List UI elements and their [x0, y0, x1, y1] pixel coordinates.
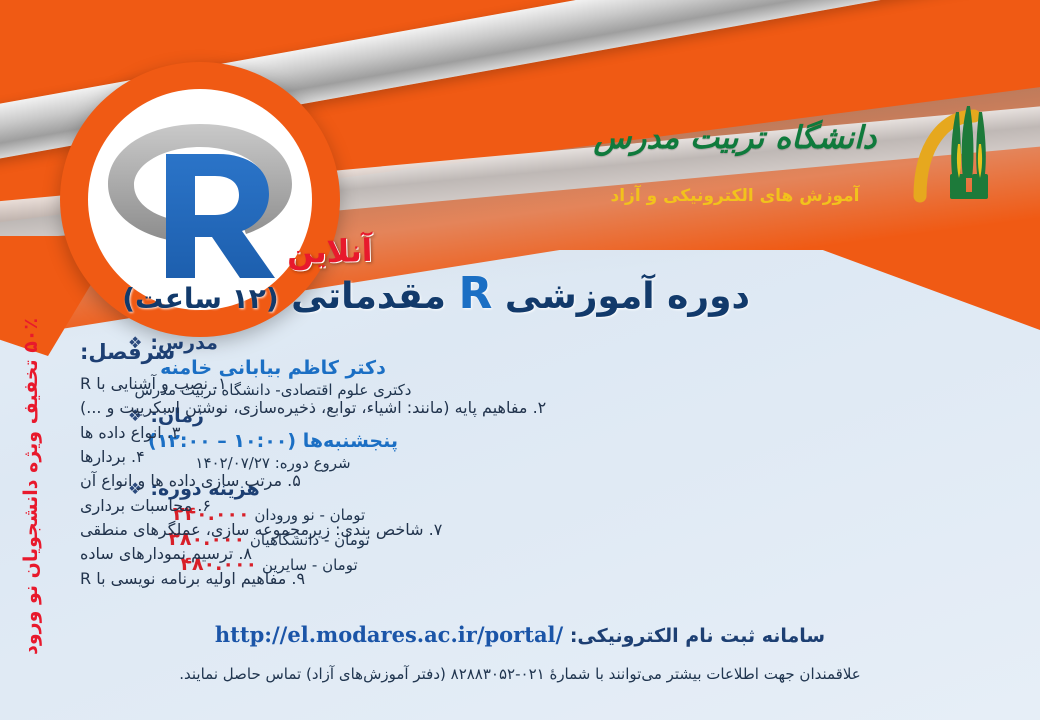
list-item: ۷. شاخص بندی: زیرمجموعه سازی، عملگرهای م… — [80, 518, 940, 542]
r-logo-letter — [166, 154, 275, 278]
headline-suffix: مقدماتی — [291, 276, 446, 317]
list-item: ۱. نصب و آشنایی با R — [80, 372, 940, 396]
registration-label: سامانه ثبت نام الکترونیکی: — [570, 625, 825, 647]
university-subtitle: آموزش های الکترونیکی و آزاد — [580, 186, 890, 206]
list-item: ۵. مرتب سازی داده ها و انواع آن — [80, 469, 940, 493]
online-badge: آنلاین — [286, 233, 372, 271]
list-item: ۹. مفاهیم اولیه برنامه نویسی با R — [80, 567, 940, 591]
university-name: دانشگاه تربیت مدرس — [570, 120, 900, 156]
footer: سامانه ثبت نام الکترونیکی: http://el.mod… — [0, 622, 1040, 683]
contact-line: علاقمندان جهت اطلاعات بیشتر می‌توانند با… — [0, 665, 1040, 683]
tarbiat-modares-emblem-icon — [912, 98, 1022, 203]
headline-prefix: دوره آموزشی — [505, 276, 750, 317]
page-title: دوره آموزشی R مقدماتی (۱۲ ساعت) — [290, 268, 750, 319]
registration-line: سامانه ثبت نام الکترونیکی: http://el.mod… — [0, 622, 1040, 647]
list-item: ۸. ترسیم نمودارهای ساده — [80, 542, 940, 566]
list-item: ۴. بردارها — [80, 445, 940, 469]
syllabus-title: سرفصل: — [80, 340, 940, 364]
registration-url-link[interactable]: http://el.modares.ac.ir/portal/ — [215, 622, 563, 647]
syllabus-section: سرفصل: ۱. نصب و آشنایی با R ۲. مفاهیم پا… — [80, 340, 940, 591]
list-item: ۶. محاسبات برداری — [80, 494, 940, 518]
course-poster: دانشگاه تربیت مدرس آموزش های الکترونیکی … — [0, 0, 1040, 720]
headline-hours: (۱۲ ساعت) — [122, 282, 278, 315]
discount-banner-left: ۵۰٪ تخفیف ویژه دانشجویان نو ورود — [6, 0, 28, 318]
list-item: ۳. انواع داده ها — [80, 421, 940, 445]
headline-r-mark: R — [458, 268, 492, 319]
list-item: ۲. مفاهیم پایه (مانند: اشیاء، توابع، ذخی… — [80, 396, 940, 420]
